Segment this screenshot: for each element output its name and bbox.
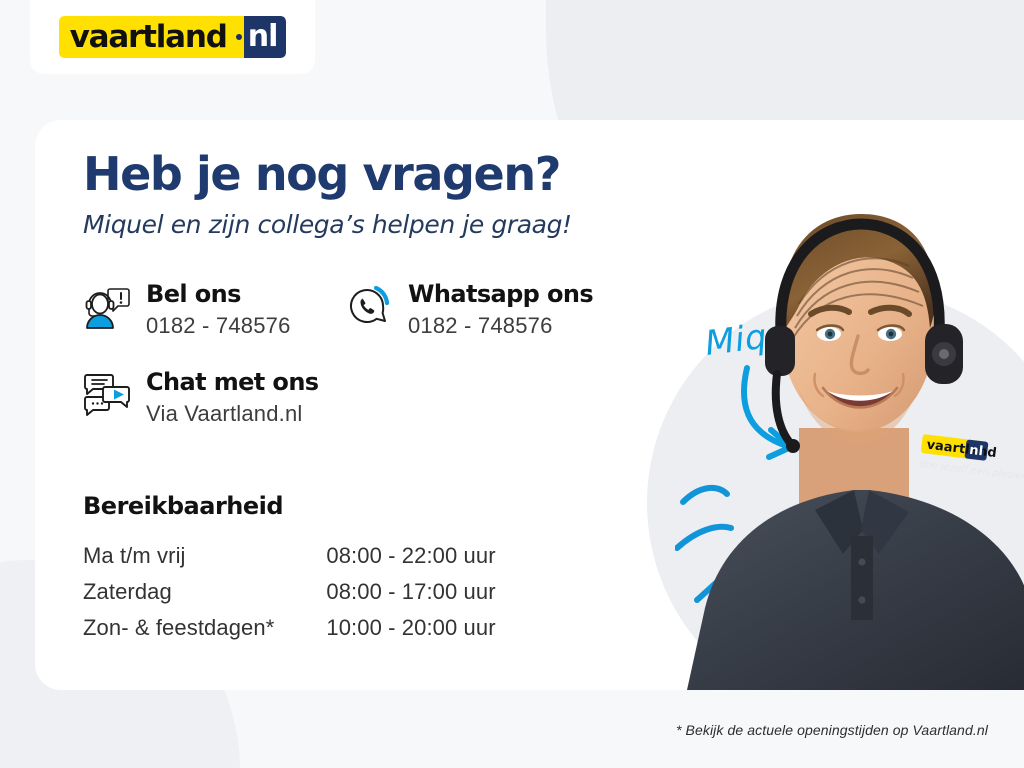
availability-table: Ma t/m vrij 08:00 - 22:00 uur Zaterdag 0… [83, 538, 496, 646]
contact-value[interactable]: 0182 - 748576 [146, 313, 291, 339]
logo-wordmark: vaartland [59, 16, 236, 58]
headset-person-icon [83, 282, 131, 330]
table-row: Zaterdag 08:00 - 17:00 uur [83, 574, 496, 610]
contact-value[interactable]: 0182 - 748576 [408, 313, 593, 339]
agent-photo: vaartland nl doe jezelf een plezier [647, 138, 1024, 690]
chat-bubbles-icon [83, 370, 131, 418]
logo-dot-icon [236, 16, 244, 58]
hours-day: Zon- & feestdagen* [83, 610, 326, 646]
contact-value[interactable]: Via Vaartland.nl [146, 401, 319, 427]
contact-title: Chat met ons [146, 368, 319, 396]
availability-heading: Bereikbaarheid [83, 492, 496, 520]
contact-item-chat-met-ons[interactable]: Chat met ons Via Vaartland.nl [83, 368, 319, 427]
hours-time: 10:00 - 20:00 uur [326, 610, 495, 646]
vaartland-logo-lockup: vaartland nl [59, 16, 287, 58]
svg-text:doe jezelf een plezier: doe jezelf een plezier [919, 459, 1024, 483]
contact-title: Whatsapp ons [408, 280, 593, 308]
contact-item-bel-ons[interactable]: Bel ons 0182 - 748576 [83, 280, 291, 339]
contact-text-bel-ons: Bel ons 0182 - 748576 [146, 280, 291, 339]
logo-tld: nl [244, 16, 287, 58]
table-row: Zon- & feestdagen* 10:00 - 20:00 uur [83, 610, 496, 646]
brand-logo[interactable]: vaartland nl [30, 0, 315, 74]
hours-time: 08:00 - 17:00 uur [326, 574, 495, 610]
hours-time: 08:00 - 22:00 uur [326, 538, 495, 574]
table-row: Ma t/m vrij 08:00 - 22:00 uur [83, 538, 496, 574]
contact-text-whatsapp-ons: Whatsapp ons 0182 - 748576 [408, 280, 593, 339]
hours-day: Zaterdag [83, 574, 326, 610]
footnote-text: * Bekijk de actuele openingstijden op Va… [676, 722, 988, 738]
whatsapp-icon [345, 282, 393, 330]
svg-text:nl: nl [968, 443, 983, 460]
contact-text-chat-met-ons: Chat met ons Via Vaartland.nl [146, 368, 319, 427]
contact-item-whatsapp-ons[interactable]: Whatsapp ons 0182 - 748576 [345, 280, 593, 339]
page-title: Heb je nog vragen? [83, 150, 572, 198]
page-subtitle: Miquel en zijn collega’s helpen je graag… [83, 210, 572, 239]
hours-day: Ma t/m vrij [83, 538, 326, 574]
contact-title: Bel ons [146, 280, 241, 308]
headline-block: Heb je nog vragen? Miquel en zijn colleg… [83, 150, 572, 239]
contact-card: Heb je nog vragen? Miquel en zijn colleg… [35, 120, 1024, 690]
availability-block: Bereikbaarheid Ma t/m vrij 08:00 - 22:00… [83, 492, 496, 646]
